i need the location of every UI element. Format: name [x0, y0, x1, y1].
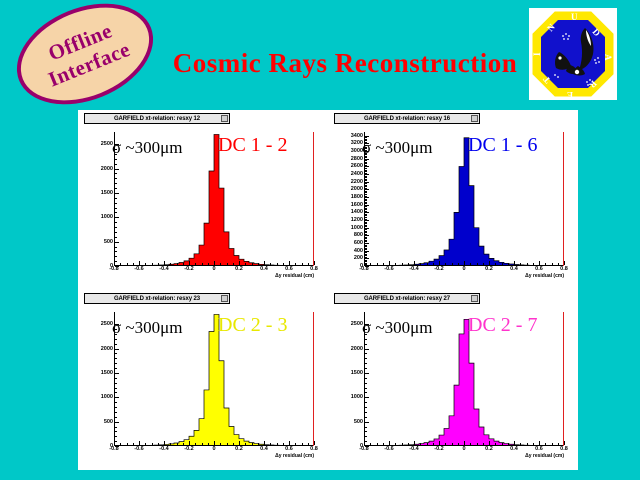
pad-title-text: GARFIELD xt-relation: resxy 27 — [364, 296, 450, 302]
y-tick-minor — [365, 231, 367, 232]
y-tick-minor — [365, 192, 367, 193]
x-tick-minor — [170, 263, 171, 265]
x-tick: -0.6 — [389, 441, 390, 445]
histogram-pad-resxy-12[interactable]: GARFIELD xt-relation: resxy 12 050010001… — [78, 110, 328, 290]
x-tick-label: -0.8 — [109, 266, 118, 272]
y-tick-minor — [365, 229, 367, 230]
y-tick-label: 2000 — [351, 346, 363, 352]
page-title: Cosmic Rays Reconstruction — [150, 48, 540, 79]
y-tick-label: 1200 — [351, 217, 363, 223]
y-tick-label: 500 — [354, 419, 363, 425]
y-tick: 1800 — [365, 197, 369, 198]
x-tick-label: -0.6 — [134, 266, 143, 272]
y-tick-minor — [365, 211, 367, 212]
x-tick: 0 — [464, 441, 465, 445]
x-tick-minor — [227, 263, 228, 265]
x-tick-minor — [558, 443, 559, 445]
x-tick-minor — [402, 263, 403, 265]
x-tick: -0.2 — [439, 441, 440, 445]
y-tick-minor — [365, 170, 367, 171]
x-tick: -0.4 — [414, 441, 415, 445]
y-tick-minor — [365, 261, 367, 262]
x-tick-minor — [202, 263, 203, 265]
y-tick-label: 2200 — [351, 179, 363, 185]
plot-right-border — [563, 312, 564, 446]
y-tick-minor — [115, 198, 117, 199]
x-tick-minor — [370, 263, 371, 265]
y-tick-minor — [115, 344, 117, 345]
x-tick-minor — [427, 263, 428, 265]
pad-title-text: GARFIELD xt-relation: resxy 12 — [114, 116, 200, 122]
y-tick-minor — [115, 227, 117, 228]
y-tick: 1000 — [365, 228, 369, 229]
x-tick-minor — [402, 443, 403, 445]
x-tick-minor — [145, 263, 146, 265]
x-tick-label: -0.2 — [434, 446, 443, 452]
x-tick: 0.2 — [239, 441, 240, 445]
y-tick-minor — [115, 388, 117, 389]
y-tick-label: 1600 — [351, 202, 363, 208]
sigma-annotation: σ ~300μm — [112, 318, 182, 338]
x-tick: 0 — [464, 261, 465, 265]
y-tick-minor — [365, 339, 367, 340]
y-tick-minor — [365, 245, 367, 246]
y-tick-minor — [365, 249, 367, 250]
y-tick-minor — [365, 431, 367, 432]
pad-title-button-icon[interactable] — [471, 295, 478, 302]
y-tick: 2000 — [365, 349, 369, 350]
root-canvas: GARFIELD xt-relation: resxy 12 050010001… — [78, 110, 578, 470]
x-tick-label: -0.4 — [409, 446, 418, 452]
x-tick-minor — [545, 263, 546, 265]
y-tick-minor — [365, 240, 367, 241]
x-tick-minor — [202, 443, 203, 445]
x-tick-label: 0 — [462, 446, 465, 452]
x-tick-minor — [408, 263, 409, 265]
x-tick-label: 0.2 — [485, 446, 493, 452]
y-tick-minor — [365, 392, 367, 393]
y-tick: 1500 — [115, 193, 119, 194]
x-tick-minor — [527, 443, 528, 445]
x-tick-minor — [445, 263, 446, 265]
y-tick-minor — [115, 232, 117, 233]
x-tick: -0.2 — [189, 261, 190, 265]
y-tick-minor — [365, 160, 367, 161]
x-tick-minor — [545, 443, 546, 445]
y-tick: 800 — [365, 235, 369, 236]
x-tick-minor — [177, 443, 178, 445]
y-tick-minor — [115, 436, 117, 437]
y-tick-minor — [365, 202, 367, 203]
x-tick-minor — [452, 263, 453, 265]
histogram-pad-resxy-16[interactable]: GARFIELD xt-relation: resxy 16 020040060… — [328, 110, 578, 290]
x-tick-label: -0.6 — [384, 446, 393, 452]
x-tick-minor — [533, 263, 534, 265]
y-tick-label: 1500 — [101, 370, 113, 376]
x-tick-minor — [477, 263, 478, 265]
x-tick: -0.2 — [189, 441, 190, 445]
x-tick-minor — [120, 263, 121, 265]
y-tick-label: 2000 — [101, 346, 113, 352]
slide-canvas: Offline Interface Cosmic Rays Reconstruc… — [0, 0, 640, 480]
pad-title-button-icon[interactable] — [221, 295, 228, 302]
y-tick: 500 — [115, 422, 119, 423]
y-tick-minor — [115, 159, 117, 160]
x-tick-minor — [452, 443, 453, 445]
y-tick: 1000 — [115, 217, 119, 218]
x-tick-minor — [377, 443, 378, 445]
dc-pair-label: DC 2 - 3 — [218, 314, 287, 337]
pad-titlebar[interactable]: GARFIELD xt-relation: resxy 16 — [334, 113, 480, 124]
y-tick-minor — [365, 363, 367, 364]
x-tick-minor — [195, 263, 196, 265]
y-tick-minor — [365, 358, 367, 359]
x-tick: 0 — [214, 261, 215, 265]
y-tick-label: 2400 — [351, 171, 363, 177]
x-tick-minor — [502, 443, 503, 445]
y-tick-minor — [365, 214, 367, 215]
x-tick: 0.2 — [239, 261, 240, 265]
x-tick-minor — [245, 263, 246, 265]
x-tick-minor — [470, 263, 471, 265]
x-tick-minor — [527, 263, 528, 265]
y-tick-minor — [365, 441, 367, 442]
x-tick: 0.4 — [514, 261, 515, 265]
x-tick: -0.4 — [164, 261, 165, 265]
x-tick-minor — [395, 443, 396, 445]
pad-title-button-icon[interactable] — [471, 115, 478, 122]
x-tick-minor — [420, 443, 421, 445]
y-tick-minor — [365, 402, 367, 403]
x-tick-label: 0 — [462, 266, 465, 272]
x-tick-minor — [395, 263, 396, 265]
x-tick: 0.8 — [314, 441, 315, 445]
x-tick-minor — [295, 443, 296, 445]
x-tick: -0.4 — [164, 441, 165, 445]
x-tick-label: 0.8 — [310, 266, 318, 272]
x-tick-minor — [208, 263, 209, 265]
y-tick-minor — [365, 407, 367, 408]
x-tick-minor — [277, 443, 278, 445]
y-tick-minor — [365, 237, 367, 238]
y-tick-minor — [365, 165, 367, 166]
x-tick-minor — [177, 263, 178, 265]
y-tick-label: 200 — [354, 255, 363, 261]
x-tick-minor — [227, 443, 228, 445]
x-tick-minor — [195, 443, 196, 445]
x-tick-label: 0 — [212, 266, 215, 272]
y-tick-label: 1000 — [351, 225, 363, 231]
y-tick-label: 2000 — [101, 166, 113, 172]
x-tick-minor — [433, 263, 434, 265]
x-tick: -0.6 — [389, 261, 390, 265]
x-tick-minor — [383, 263, 384, 265]
y-tick-minor — [365, 412, 367, 413]
x-axis-title: Δy residual (cm) — [275, 273, 314, 279]
x-tick-minor — [302, 263, 303, 265]
x-tick-label: -0.8 — [109, 446, 118, 452]
x-tick-label: -0.2 — [434, 266, 443, 272]
svg-text:E: E — [567, 90, 573, 100]
x-tick-minor — [458, 263, 459, 265]
x-tick-label: 0.4 — [510, 266, 518, 272]
x-tick-minor — [233, 443, 234, 445]
y-tick-minor — [365, 368, 367, 369]
x-tick-minor — [258, 443, 259, 445]
x-tick: -0.6 — [139, 261, 140, 265]
x-axis-title: Δy residual (cm) — [275, 453, 314, 459]
y-tick-minor — [365, 225, 367, 226]
x-tick-label: 0.6 — [285, 446, 293, 452]
y-tick-minor — [115, 247, 117, 248]
x-tick-minor — [302, 443, 303, 445]
x-axis-title: Δy residual (cm) — [525, 453, 564, 459]
x-tick-label: 0.8 — [560, 446, 568, 452]
y-tick-minor — [365, 177, 367, 178]
nuda-logo: N U D A R E T I — [529, 8, 617, 100]
y-tick: 200 — [365, 258, 369, 259]
x-tick-minor — [552, 443, 553, 445]
y-tick-label: 1400 — [351, 209, 363, 215]
y-tick-minor — [115, 392, 117, 393]
dc-pair-label: DC 1 - 2 — [218, 134, 287, 157]
pad-title-text: GARFIELD xt-relation: resxy 23 — [114, 296, 200, 302]
x-tick-label: 0.8 — [560, 266, 568, 272]
y-tick-minor — [365, 234, 367, 235]
x-tick: -0.8 — [364, 441, 365, 445]
sigma-annotation: σ ~300μm — [112, 138, 182, 158]
y-tick-minor — [365, 163, 367, 164]
y-tick-label: 1000 — [351, 394, 363, 400]
y-tick: 2400 — [365, 174, 369, 175]
y-tick-minor — [365, 196, 367, 197]
pad-titlebar[interactable]: GARFIELD xt-relation: resxy 23 — [84, 293, 230, 304]
x-tick-label: -0.4 — [159, 446, 168, 452]
x-tick-label: -0.6 — [134, 446, 143, 452]
pad-titlebar[interactable]: GARFIELD xt-relation: resxy 12 — [84, 113, 230, 124]
nuda-logo-graphic: N U D A R E T I — [529, 8, 617, 100]
y-tick-minor — [115, 251, 117, 252]
y-tick: 2000 — [115, 169, 119, 170]
x-tick-minor — [370, 443, 371, 445]
y-tick-minor — [365, 206, 367, 207]
y-tick-minor — [365, 168, 367, 169]
pad-title-button-icon[interactable] — [221, 115, 228, 122]
y-tick-minor — [365, 219, 367, 220]
x-tick: 0.8 — [314, 261, 315, 265]
x-tick-minor — [127, 443, 128, 445]
x-tick-minor — [220, 263, 221, 265]
x-tick-minor — [495, 263, 496, 265]
y-tick-label: 500 — [104, 239, 113, 245]
y-tick-label: 1500 — [101, 190, 113, 196]
x-tick-minor — [145, 443, 146, 445]
y-tick: 1600 — [365, 205, 369, 206]
y-tick-minor — [365, 185, 367, 186]
y-tick-minor — [115, 353, 117, 354]
x-tick-minor — [558, 263, 559, 265]
x-tick: 0.6 — [539, 261, 540, 265]
x-tick: 0.4 — [264, 261, 265, 265]
histogram-pad-resxy-27[interactable]: GARFIELD xt-relation: resxy 27 050010001… — [328, 290, 578, 470]
y-tick-minor — [115, 261, 117, 262]
sigma-annotation: σ ~300μm — [362, 138, 432, 158]
x-tick-label: -0.4 — [159, 266, 168, 272]
svg-text:U: U — [571, 12, 578, 22]
x-tick-minor — [183, 443, 184, 445]
x-tick-minor — [458, 443, 459, 445]
y-tick-minor — [115, 183, 117, 184]
y-tick: 500 — [365, 422, 369, 423]
y-tick-label: 1800 — [351, 194, 363, 200]
y-tick-label: 2000 — [351, 186, 363, 192]
y-tick-minor — [115, 368, 117, 369]
y-tick-minor — [365, 353, 367, 354]
y-tick-minor — [115, 164, 117, 165]
y-tick-minor — [365, 171, 367, 172]
y-tick-minor — [115, 339, 117, 340]
x-tick-minor — [552, 263, 553, 265]
x-tick: 0.8 — [564, 261, 565, 265]
x-tick: -0.8 — [114, 261, 115, 265]
x-tick-minor — [120, 443, 121, 445]
y-tick: 1400 — [365, 212, 369, 213]
x-tick-minor — [295, 263, 296, 265]
y-tick-minor — [365, 254, 367, 255]
x-tick: -0.8 — [364, 261, 365, 265]
y-tick-minor — [115, 378, 117, 379]
y-tick-label: 600 — [354, 240, 363, 246]
y-tick-minor — [365, 203, 367, 204]
x-tick-minor — [495, 443, 496, 445]
y-tick-label: 400 — [354, 248, 363, 254]
svg-text:A: A — [603, 54, 613, 61]
y-tick-minor — [115, 173, 117, 174]
x-tick-label: 0.6 — [285, 266, 293, 272]
x-tick: -0.6 — [139, 441, 140, 445]
y-tick: 500 — [115, 242, 119, 243]
x-tick: 0.6 — [289, 441, 290, 445]
y-tick-minor — [365, 436, 367, 437]
x-tick-minor — [502, 263, 503, 265]
y-tick: 2000 — [115, 349, 119, 350]
x-tick-minor — [252, 443, 253, 445]
y-tick-minor — [365, 246, 367, 247]
x-tick-minor — [233, 263, 234, 265]
x-tick-minor — [283, 263, 284, 265]
y-tick-minor — [365, 252, 367, 253]
x-tick: 0.8 — [564, 441, 565, 445]
x-tick-minor — [483, 443, 484, 445]
x-tick: 0.6 — [539, 441, 540, 445]
x-tick-minor — [270, 443, 271, 445]
y-tick-minor — [115, 402, 117, 403]
y-tick-minor — [115, 222, 117, 223]
y-tick-label: 2600 — [351, 163, 363, 169]
x-tick-label: 0.2 — [235, 446, 243, 452]
x-tick-minor — [308, 263, 309, 265]
x-tick-minor — [520, 443, 521, 445]
y-tick-minor — [115, 417, 117, 418]
y-tick-minor — [365, 232, 367, 233]
x-tick: -0.4 — [414, 261, 415, 265]
x-tick: 0.2 — [489, 261, 490, 265]
y-tick: 1000 — [115, 397, 119, 398]
x-tick-minor — [420, 263, 421, 265]
x-tick-minor — [533, 443, 534, 445]
y-tick: 600 — [365, 243, 369, 244]
y-tick-minor — [365, 417, 367, 418]
y-tick-minor — [115, 358, 117, 359]
pad-title-text: GARFIELD xt-relation: resxy 16 — [364, 116, 450, 122]
histogram-pad-resxy-23[interactable]: GARFIELD xt-relation: resxy 23 050010001… — [78, 290, 328, 470]
y-tick-minor — [365, 188, 367, 189]
offline-interface-badge: Offline Interface — [2, 0, 168, 123]
x-tick-label: 0.6 — [535, 266, 543, 272]
x-tick-minor — [158, 263, 159, 265]
y-tick-minor — [365, 200, 367, 201]
y-tick-minor — [115, 407, 117, 408]
y-tick: 3400 — [365, 136, 369, 137]
y-tick-minor — [365, 248, 367, 249]
x-tick-label: 0.2 — [485, 266, 493, 272]
plot-right-border — [313, 132, 314, 266]
x-tick-minor — [170, 443, 171, 445]
x-tick-minor — [470, 443, 471, 445]
y-tick-minor — [115, 412, 117, 413]
y-tick-minor — [115, 208, 117, 209]
x-tick-minor — [220, 443, 221, 445]
x-tick-minor — [283, 443, 284, 445]
y-tick-minor — [115, 237, 117, 238]
y-tick-minor — [365, 378, 367, 379]
x-tick: -0.2 — [439, 261, 440, 265]
pad-titlebar[interactable]: GARFIELD xt-relation: resxy 27 — [334, 293, 480, 304]
x-tick: -0.8 — [114, 441, 115, 445]
x-tick-minor — [520, 263, 521, 265]
y-tick-minor — [365, 217, 367, 218]
x-tick-minor — [208, 443, 209, 445]
x-tick-label: -0.8 — [359, 266, 368, 272]
y-tick-minor — [365, 257, 367, 258]
x-tick-minor — [133, 443, 134, 445]
y-tick-minor — [365, 199, 367, 200]
x-tick-minor — [127, 263, 128, 265]
y-tick-label: 1500 — [351, 370, 363, 376]
y-tick-minor — [365, 183, 367, 184]
y-tick-minor — [365, 260, 367, 261]
x-tick: 0.4 — [264, 441, 265, 445]
x-tick-minor — [252, 263, 253, 265]
y-tick-minor — [115, 212, 117, 213]
x-tick-minor — [377, 263, 378, 265]
y-tick: 2200 — [365, 182, 369, 183]
x-tick-minor — [508, 443, 509, 445]
x-tick-minor — [308, 443, 309, 445]
y-tick-minor — [365, 180, 367, 181]
y-tick-label: 1000 — [101, 394, 113, 400]
x-tick-label: 0.8 — [310, 446, 318, 452]
x-tick-minor — [477, 443, 478, 445]
x-tick: 0.6 — [289, 261, 290, 265]
y-tick-minor — [365, 222, 367, 223]
y-tick-minor — [115, 431, 117, 432]
y-tick-minor — [365, 263, 367, 264]
x-tick-label: -0.2 — [184, 266, 193, 272]
y-tick: 2600 — [365, 166, 369, 167]
x-tick-minor — [258, 263, 259, 265]
y-tick-minor — [365, 194, 367, 195]
